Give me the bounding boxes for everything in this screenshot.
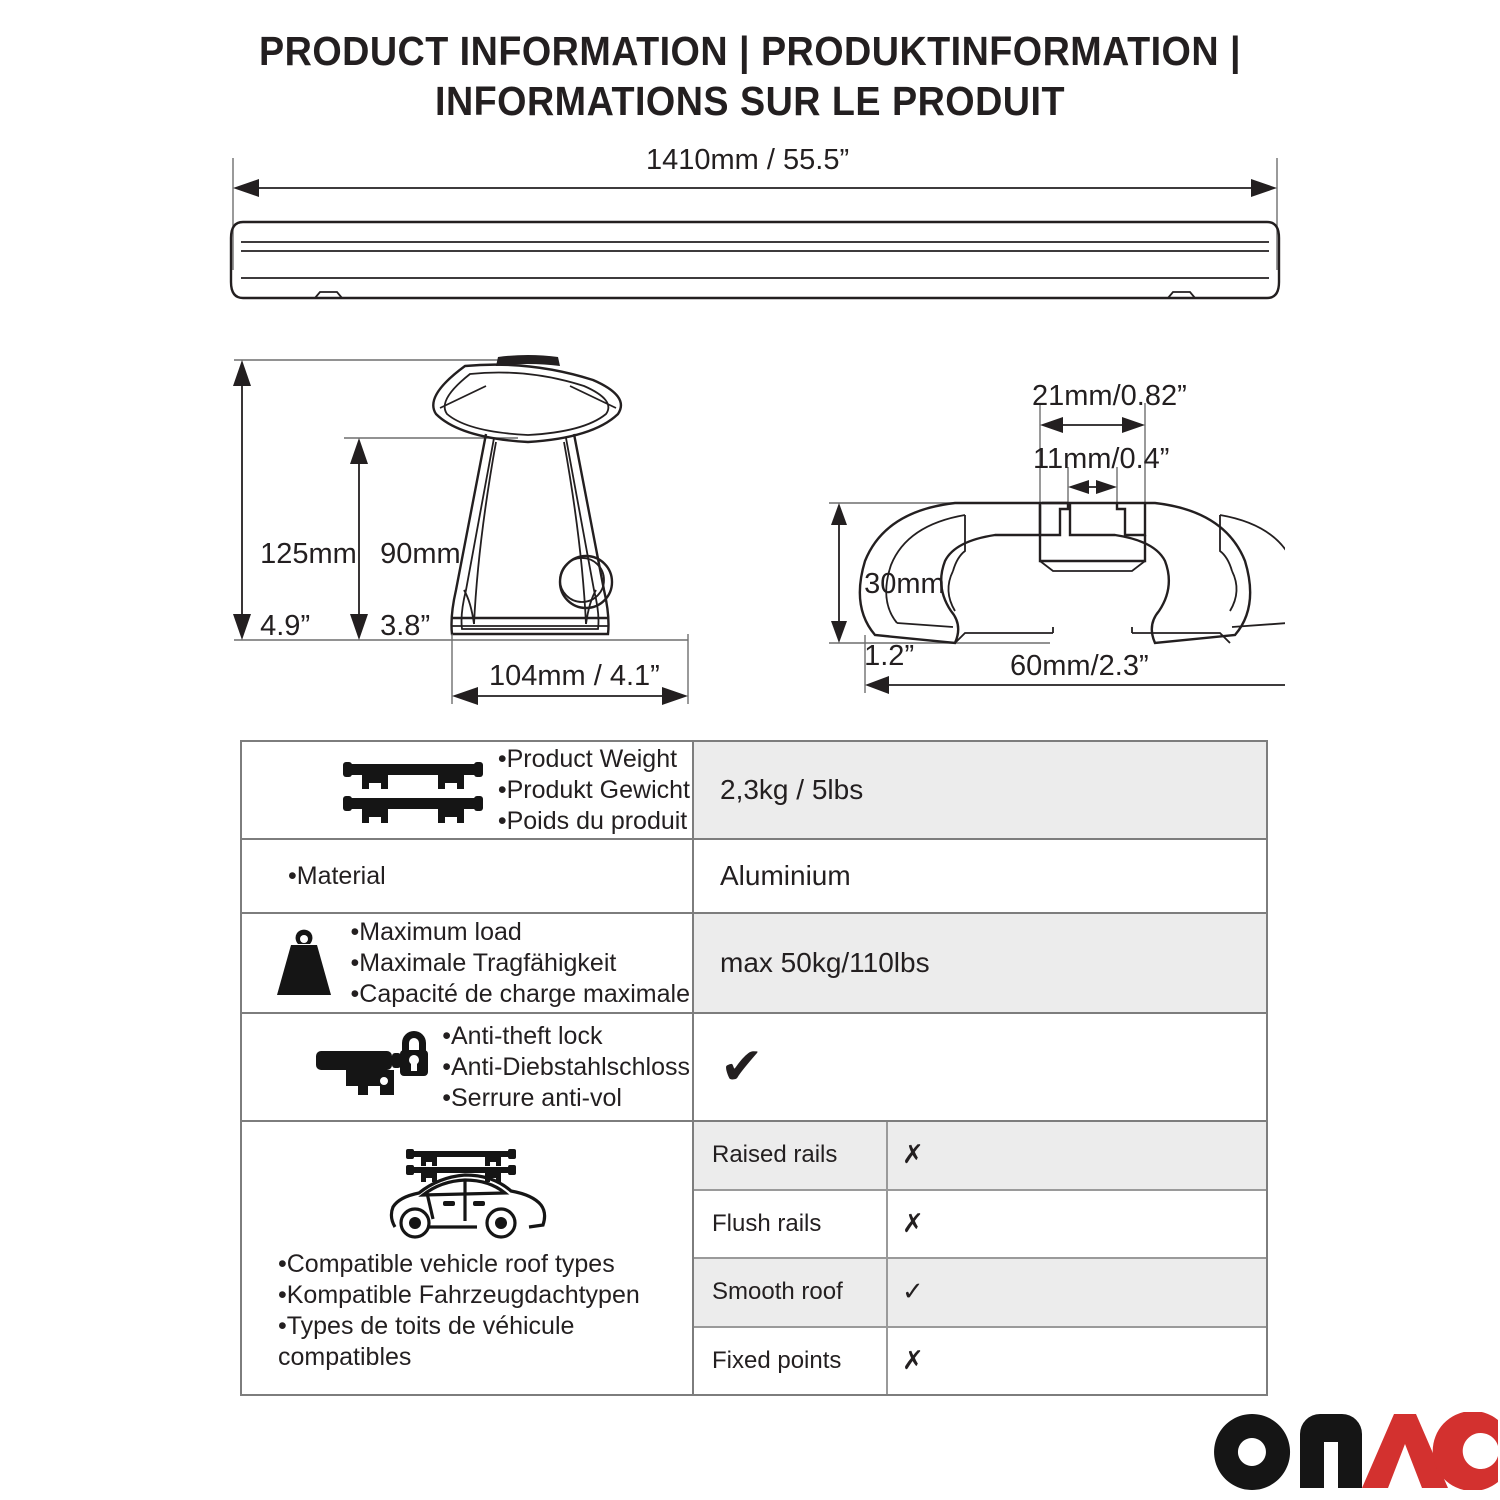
table-row: •Maximum load •Maximale Tragfähigkeit •C… bbox=[242, 914, 1266, 1014]
roof-type-value: ✓ bbox=[888, 1259, 1266, 1326]
table-row: •Compatible vehicle roof types •Kompatib… bbox=[242, 1122, 1266, 1394]
roof-type-value: ✗ bbox=[888, 1328, 1266, 1395]
row-label-text: •Anti-theft lock •Anti-Diebstahlschloss … bbox=[432, 1021, 690, 1114]
row-label-cell: •Anti-theft lock •Anti-Diebstahlschloss … bbox=[242, 1014, 694, 1120]
title-line-1: PRODUCT INFORMATION | PRODUKTINFORMATION… bbox=[60, 26, 1440, 76]
row-label-cell: •Compatible vehicle roof types •Kompatib… bbox=[242, 1122, 694, 1394]
row-label-text: •Material bbox=[278, 861, 386, 892]
roof-type-name: Smooth roof bbox=[694, 1259, 888, 1326]
roof-type-row: Smooth roof ✓ bbox=[694, 1259, 1266, 1328]
row-label-cell: •Maximum load •Maximale Tragfähigkeit •C… bbox=[242, 914, 694, 1012]
tower-height-90-label: 90mm 3.8” bbox=[364, 500, 461, 644]
roof-type-name: Raised rails bbox=[694, 1122, 888, 1189]
page-title: PRODUCT INFORMATION | PRODUKTINFORMATION… bbox=[0, 26, 1500, 126]
crossbars-icon bbox=[338, 756, 488, 824]
roof-type-value: ✗ bbox=[888, 1191, 1266, 1258]
profile-slot-outer-label: 21mm/0.82” bbox=[1032, 378, 1187, 414]
checkmark-icon: ✔ bbox=[720, 1041, 764, 1093]
weight-icon bbox=[267, 927, 341, 999]
roof-type-row: Raised rails ✗ bbox=[694, 1122, 1266, 1191]
omac-logo bbox=[1212, 1412, 1500, 1490]
roof-type-row: Fixed points ✗ bbox=[694, 1328, 1266, 1395]
row-label-cell: •Material bbox=[242, 840, 694, 912]
table-row: •Product Weight •Produkt Gewicht •Poids … bbox=[242, 742, 1266, 840]
row-label-text: •Compatible vehicle roof types •Kompatib… bbox=[256, 1249, 678, 1373]
table-row: •Anti-theft lock •Anti-Diebstahlschloss … bbox=[242, 1014, 1266, 1122]
roof-type-row: Flush rails ✗ bbox=[694, 1191, 1266, 1260]
tower-height-125-label: 125mm 4.9” bbox=[244, 500, 357, 644]
row-value: max 50kg/110lbs bbox=[694, 914, 1266, 1012]
bar-length-dimension: 1410mm / 55.5” bbox=[646, 142, 849, 178]
profile-slot-inner-label: 11mm/0.4” bbox=[1033, 441, 1169, 477]
lock-icon bbox=[310, 1029, 432, 1105]
roof-type-value: ✗ bbox=[888, 1122, 1266, 1189]
row-label-cell: •Product Weight •Produkt Gewicht •Poids … bbox=[242, 742, 694, 838]
car-with-roofbars-icon bbox=[381, 1143, 553, 1243]
title-line-2: INFORMATIONS SUR LE PRODUIT bbox=[60, 76, 1440, 126]
spec-table: •Product Weight •Produkt Gewicht •Poids … bbox=[240, 740, 1268, 1396]
roof-type-name: Flush rails bbox=[694, 1191, 888, 1258]
profile-width-label: 60mm/2.3” bbox=[1010, 648, 1149, 684]
row-value: Aluminium bbox=[694, 840, 1266, 912]
row-value: 2,3kg / 5lbs bbox=[694, 742, 1266, 838]
roof-type-name: Fixed points bbox=[694, 1328, 888, 1395]
row-label-text: •Maximum load •Maximale Tragfähigkeit •C… bbox=[341, 917, 690, 1010]
row-value: ✔ bbox=[694, 1014, 1266, 1120]
roof-type-subtable: Raised rails ✗ Flush rails ✗ Smooth roof… bbox=[694, 1122, 1266, 1394]
table-row: •Material Aluminium bbox=[242, 840, 1266, 914]
row-label-text: •Product Weight •Produkt Gewicht •Poids … bbox=[488, 744, 690, 837]
tower-width-label: 104mm / 4.1” bbox=[489, 658, 660, 694]
profile-height-label: 30mm 1.2” bbox=[848, 530, 945, 674]
